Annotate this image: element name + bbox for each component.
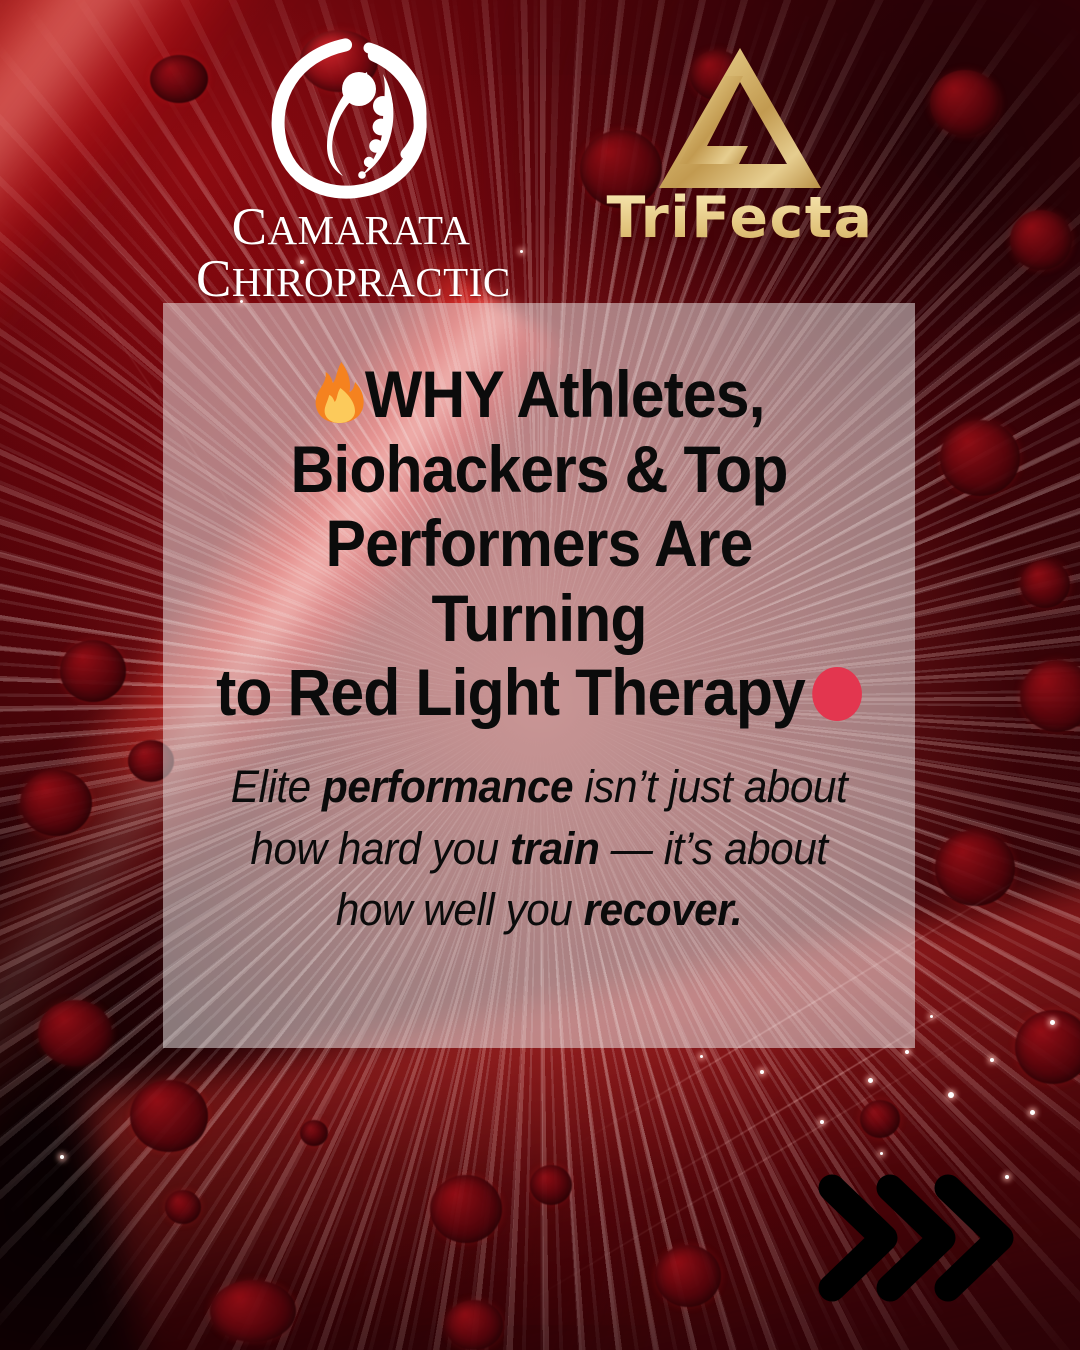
chiropractic-rest: HIROPRACTIC <box>232 259 511 305</box>
trifecta-wordmark: TriFecta Light™ <box>575 192 905 297</box>
subtitle-part1: Elite <box>231 761 322 812</box>
chiropractic-initial: C <box>196 250 232 308</box>
social-post-canvas: CAMARATA CHIROPRACTIC <box>0 0 1080 1350</box>
trademark-symbol: ™ <box>816 250 836 274</box>
camarata-wordmark: CAMARATA CHIROPRACTIC <box>196 202 506 306</box>
fire-emoji <box>313 361 365 423</box>
chevron-right-icon-1 <box>832 1188 884 1288</box>
gold-triangle-lambda-icon <box>655 42 825 192</box>
subtitle: Elite performance isn’t just about how h… <box>208 756 870 941</box>
subtitle-bold-performance: performance <box>322 761 573 812</box>
camarata-rest: AMARATA <box>267 207 470 253</box>
headline-text: WHY Athletes, Biohackers & Top Performer… <box>216 357 805 729</box>
swipe-next-chevrons[interactable] <box>812 1168 1022 1308</box>
chevron-right-icon-3 <box>948 1188 1000 1288</box>
content-overlay-card: WHY Athletes, Biohackers & Top Performer… <box>163 303 915 1048</box>
subtitle-bold-train: train <box>510 823 599 874</box>
logo-bar: CAMARATA CHIROPRACTIC <box>0 0 1080 300</box>
camarata-chiropractic-logo[interactable]: CAMARATA CHIROPRACTIC <box>196 34 506 306</box>
camarata-initial: C <box>232 198 268 256</box>
spine-figure-circle-icon <box>265 34 437 202</box>
trifecta-light-logo[interactable]: TriFecta Light™ <box>575 42 905 297</box>
red-circle-emoji <box>812 667 862 721</box>
chevron-right-icon-2 <box>890 1188 942 1288</box>
subtitle-bold-recover: recover. <box>584 884 743 935</box>
page-title: WHY Athletes, Biohackers & Top Performer… <box>215 357 863 730</box>
trifecta-line2: Light <box>644 237 816 303</box>
